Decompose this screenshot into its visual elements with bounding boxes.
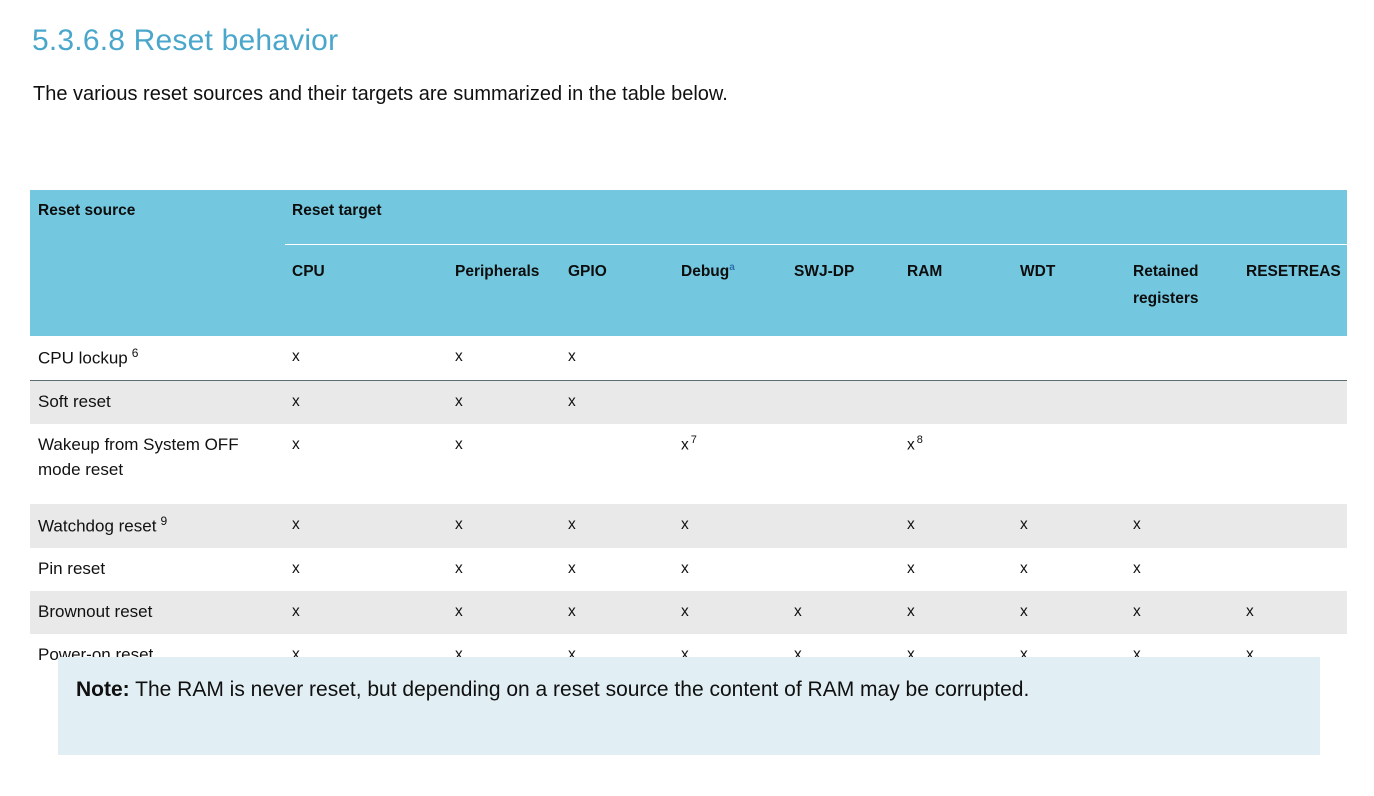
cell-mark: x [292,560,300,577]
column-header-debug-label: Debug [681,263,729,280]
intro-paragraph: The various reset sources and their targ… [33,83,728,106]
table-row-soft-reset: Soft reset x x x [30,381,1347,424]
cell-soft-reset-swj-dp [787,381,900,424]
table-header: Reset source Reset target CPU Peripheral… [30,190,1347,336]
table-header-group-row: Reset source Reset target [30,190,1347,245]
table-body: CPU lockup6 x x x Soft reset x x x [30,336,1347,676]
row-label-pin-reset: Pin reset [30,548,285,591]
column-header-gpio: GPIO [561,245,674,337]
cell-wakeup-peripherals: x [448,424,561,504]
column-header-spacer [30,245,285,337]
footnote-marker-6: 6 [132,346,139,360]
cell-pin-reset-wdt: x [1013,548,1126,591]
cell-pin-reset-swj-dp [787,548,900,591]
cell-watchdog-swj-dp [787,504,900,548]
cell-soft-reset-resetreas [1239,381,1347,424]
cell-mark: x [455,436,463,453]
cell-pin-reset-resetreas [1239,548,1347,591]
page-title: 5.3.6.8 Reset behavior [32,24,338,58]
footnote-marker-7: 7 [691,434,697,446]
cell-pin-reset-retained-registers: x [1126,548,1239,591]
cell-mark: x [907,436,915,453]
cell-brownout-debug: x [674,591,787,634]
cell-pin-reset-debug: x [674,548,787,591]
row-label-text: Watchdog reset [38,517,156,536]
cell-brownout-wdt: x [1013,591,1126,634]
column-header-peripherals: Peripherals [448,245,561,337]
note-text: Note: The RAM is never reset, but depend… [76,675,1296,705]
column-header-swj-dp-label: SWJ-DP [794,263,854,280]
cell-cpu-lockup-peripherals: x [448,336,561,381]
cell-mark: x [681,436,689,453]
cell-mark: x [1133,516,1141,533]
cell-mark: x [292,348,300,365]
cell-brownout-ram: x [900,591,1013,634]
cell-wakeup-debug: x7 [674,424,787,504]
cell-soft-reset-ram [900,381,1013,424]
cell-mark: x [292,393,300,410]
row-label-text: Soft reset [38,392,111,411]
cell-mark: x [455,348,463,365]
cell-mark: x [1020,603,1028,620]
cell-mark: x [568,560,576,577]
column-header-wdt: WDT [1013,245,1126,337]
table-row-pin-reset: Pin reset x x x x x x x [30,548,1347,591]
footnote-marker-8: 8 [917,434,923,446]
table-row-cpu-lockup: CPU lockup6 x x x [30,336,1347,381]
row-label-cpu-lockup: CPU lockup6 [30,336,285,381]
cell-mark: x [1020,560,1028,577]
cell-soft-reset-retained-registers [1126,381,1239,424]
cell-watchdog-debug: x [674,504,787,548]
column-header-peripherals-label: Peripherals [455,263,539,280]
cell-mark: x [681,603,689,620]
cell-brownout-gpio: x [561,591,674,634]
footnote-marker-a: a [729,262,735,273]
column-header-wdt-label: WDT [1020,263,1055,280]
cell-cpu-lockup-cpu: x [285,336,448,381]
cell-mark: x [568,603,576,620]
cell-pin-reset-cpu: x [285,548,448,591]
table-row-brownout-reset: Brownout reset x x x x x x x x x [30,591,1347,634]
cell-mark: x [681,560,689,577]
column-header-reset-source: Reset source [30,190,285,245]
cell-soft-reset-debug [674,381,787,424]
cell-soft-reset-gpio: x [561,381,674,424]
column-header-ram: RAM [900,245,1013,337]
cell-brownout-retained-registers: x [1126,591,1239,634]
cell-watchdog-cpu: x [285,504,448,548]
cell-brownout-resetreas: x [1239,591,1347,634]
row-label-soft-reset: Soft reset [30,381,285,424]
cell-watchdog-ram: x [900,504,1013,548]
column-header-ram-label: RAM [907,263,942,280]
cell-soft-reset-wdt [1013,381,1126,424]
row-label-text: Brownout reset [38,602,152,621]
cell-mark: x [568,393,576,410]
cell-pin-reset-ram: x [900,548,1013,591]
cell-soft-reset-peripherals: x [448,381,561,424]
footnote-marker-9: 9 [160,514,167,528]
column-header-swj-dp: SWJ-DP [787,245,900,337]
cell-mark: x [907,560,915,577]
cell-cpu-lockup-ram [900,336,1013,381]
column-header-reset-target: Reset target [285,190,1347,245]
cell-wakeup-ram: x8 [900,424,1013,504]
cell-watchdog-retained-registers: x [1126,504,1239,548]
cell-wakeup-retained-registers [1126,424,1239,504]
document-page: 5.3.6.8 Reset behavior The various reset… [0,0,1374,796]
cell-mark: x [794,603,802,620]
cell-cpu-lockup-resetreas [1239,336,1347,381]
cell-mark: x [455,516,463,533]
cell-mark: x [455,393,463,410]
cell-cpu-lockup-debug [674,336,787,381]
reset-behavior-table: Reset source Reset target CPU Peripheral… [30,190,1347,676]
cell-soft-reset-cpu: x [285,381,448,424]
cell-mark: x [907,603,915,620]
cell-wakeup-resetreas [1239,424,1347,504]
cell-mark: x [1246,603,1254,620]
row-label-text: Wakeup from System OFF mode reset [38,435,239,479]
cell-cpu-lockup-wdt [1013,336,1126,381]
cell-watchdog-peripherals: x [448,504,561,548]
cell-wakeup-gpio [561,424,674,504]
column-header-cpu-label: CPU [292,263,325,280]
cell-cpu-lockup-gpio: x [561,336,674,381]
cell-brownout-peripherals: x [448,591,561,634]
column-header-gpio-label: GPIO [568,263,607,280]
note-body: The RAM is never reset, but depending on… [135,678,1029,701]
cell-mark: x [455,560,463,577]
cell-mark: x [455,603,463,620]
table-row-watchdog-reset: Watchdog reset9 x x x x x x x [30,504,1347,548]
column-header-resetreas-label: RESETREAS [1246,263,1341,280]
column-header-debug: Debuga [674,245,787,337]
column-header-cpu: CPU [285,245,448,337]
column-header-retained-registers-label: Retained registers [1133,263,1198,307]
row-label-brownout-reset: Brownout reset [30,591,285,634]
cell-mark: x [1133,603,1141,620]
table-header-columns-row: CPU Peripherals GPIO Debuga SWJ-DP RAM [30,245,1347,337]
cell-watchdog-resetreas [1239,504,1347,548]
cell-cpu-lockup-swj-dp [787,336,900,381]
cell-pin-reset-peripherals: x [448,548,561,591]
cell-pin-reset-gpio: x [561,548,674,591]
row-label-text: CPU lockup [38,349,128,368]
cell-wakeup-wdt [1013,424,1126,504]
cell-mark: x [568,348,576,365]
cell-mark: x [292,603,300,620]
cell-mark: x [1133,560,1141,577]
cell-mark: x [568,516,576,533]
cell-watchdog-wdt: x [1013,504,1126,548]
row-label-watchdog-reset: Watchdog reset9 [30,504,285,548]
cell-watchdog-gpio: x [561,504,674,548]
cell-wakeup-swj-dp [787,424,900,504]
cell-mark: x [681,516,689,533]
cell-mark: x [907,516,915,533]
cell-brownout-swj-dp: x [787,591,900,634]
row-label-text: Pin reset [38,559,105,578]
note-label: Note: [76,678,130,701]
cell-mark: x [292,436,300,453]
row-label-wakeup-system-off: Wakeup from System OFF mode reset [30,424,285,504]
cell-cpu-lockup-retained-registers [1126,336,1239,381]
cell-wakeup-cpu: x [285,424,448,504]
table-row-wakeup-system-off: Wakeup from System OFF mode reset x x x7… [30,424,1347,504]
cell-brownout-cpu: x [285,591,448,634]
cell-mark: x [292,516,300,533]
note-callout: Note: The RAM is never reset, but depend… [58,657,1320,755]
cell-mark: x [1020,516,1028,533]
column-header-retained-registers: Retained registers [1126,245,1239,337]
column-header-resetreas: RESETREAS [1239,245,1347,337]
